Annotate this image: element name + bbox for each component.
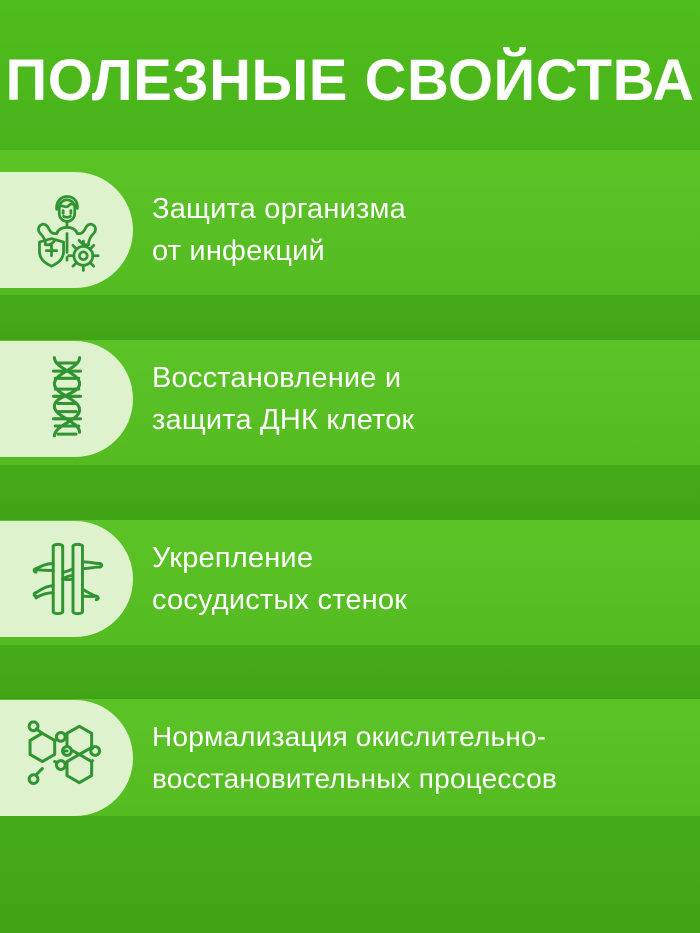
footer-band — [0, 816, 700, 933]
immune-person-shield-virus-icon — [24, 187, 110, 273]
gap-band-3 — [0, 645, 700, 699]
benefits-infographic: ПОЛЕЗНЫЕ СВОЙСТВА — [0, 0, 700, 933]
feature-row-dna: Восстановление и защита ДНК клеток — [0, 341, 700, 457]
blood-vessel-icon — [24, 536, 110, 622]
icon-pill-redox — [0, 700, 133, 816]
feature-label-redox: Нормализация окислительно- восстановител… — [152, 716, 557, 800]
page-title: ПОЛЕЗНЫЕ СВОЙСТВА — [0, 52, 700, 110]
feature-row-redox: Нормализация окислительно- восстановител… — [0, 700, 700, 816]
feature-row-vessels: Укрепление сосудистых стенок — [0, 521, 700, 637]
dna-helix-icon — [38, 354, 96, 444]
gap-band-2 — [0, 465, 700, 520]
molecule-rings-icon — [23, 714, 111, 802]
icon-pill-dna — [0, 341, 133, 457]
gap-band-1 — [0, 295, 700, 340]
feature-row-immunity: Защита организма от инфекций — [0, 172, 700, 288]
icon-pill-immunity — [0, 172, 133, 288]
feature-label-immunity: Защита организма от инфекций — [152, 188, 406, 272]
feature-label-dna: Восстановление и защита ДНК клеток — [152, 357, 414, 441]
icon-pill-vessels — [0, 521, 133, 637]
feature-label-vessels: Укрепление сосудистых стенок — [152, 537, 407, 621]
